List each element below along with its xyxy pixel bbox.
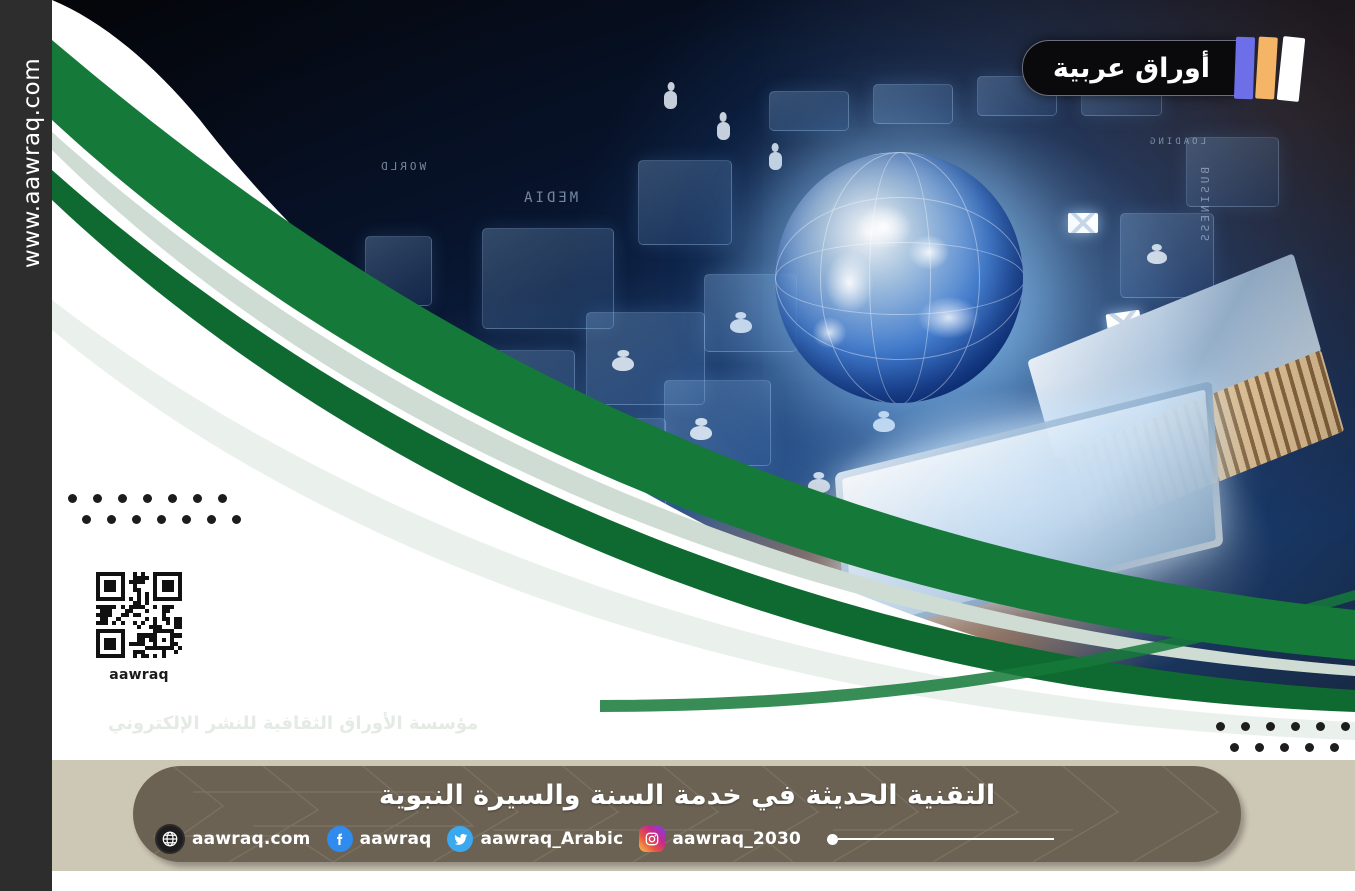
brand-name: أوراق عربية [1053,53,1210,84]
social-handle-website: aawraq.com [192,829,311,849]
social-link-twitter[interactable]: aawraq_Arabic [447,826,623,852]
twitter-icon[interactable] [447,826,473,852]
social-handle-instagram: aawraq_2030 [672,829,801,849]
books-icon [1235,33,1307,103]
book-spine-white-icon [1277,36,1306,102]
social-link-instagram[interactable]: aawraq_2030 [639,826,801,852]
organization-watermark: مؤسسة الأوراق الثقافية للنشر الإلكتروني [108,713,478,734]
book-spine-blue-icon [1234,37,1255,100]
qr-code-icon[interactable] [92,568,186,662]
social-link-website[interactable]: aawraq.com [155,824,311,854]
dot-grid-right [1216,722,1355,752]
qr-code-label: aawraq [92,667,186,683]
bottom-bar: التقنية الحديثة في خدمة السنة والسيرة ال… [133,766,1241,862]
dot-grid-left [68,494,257,524]
qr-code-block[interactable]: aawraq [92,568,186,683]
dot-rule-icon [827,834,1054,845]
social-links[interactable]: aawraq.com aawraq aawraq_Arabic [155,824,1054,854]
brand-pill[interactable]: أوراق عربية [1022,40,1237,96]
social-link-facebook[interactable]: aawraq [327,826,432,852]
book-spine-orange-icon [1255,36,1278,99]
sidebar-website-url[interactable]: www.aawraq.com [19,13,45,313]
left-sidebar: www.aawraq.com [0,0,52,891]
social-handle-facebook: aawraq [360,829,432,849]
instagram-icon[interactable] [639,826,665,852]
social-handle-twitter: aawraq_Arabic [480,829,623,849]
bottom-bar-title: التقنية الحديثة في خدمة السنة والسيرة ال… [133,780,1241,811]
globe-icon[interactable] [155,824,185,854]
hero-image: MEDIA WORLD WORLD BUSINESS LOADING [52,0,1355,760]
facebook-icon[interactable] [327,826,353,852]
poster-canvas: MEDIA WORLD WORLD BUSINESS LOADING [0,0,1355,891]
brand-logo[interactable]: أوراق عربية [1022,33,1307,103]
hero-vignette [52,0,1355,760]
